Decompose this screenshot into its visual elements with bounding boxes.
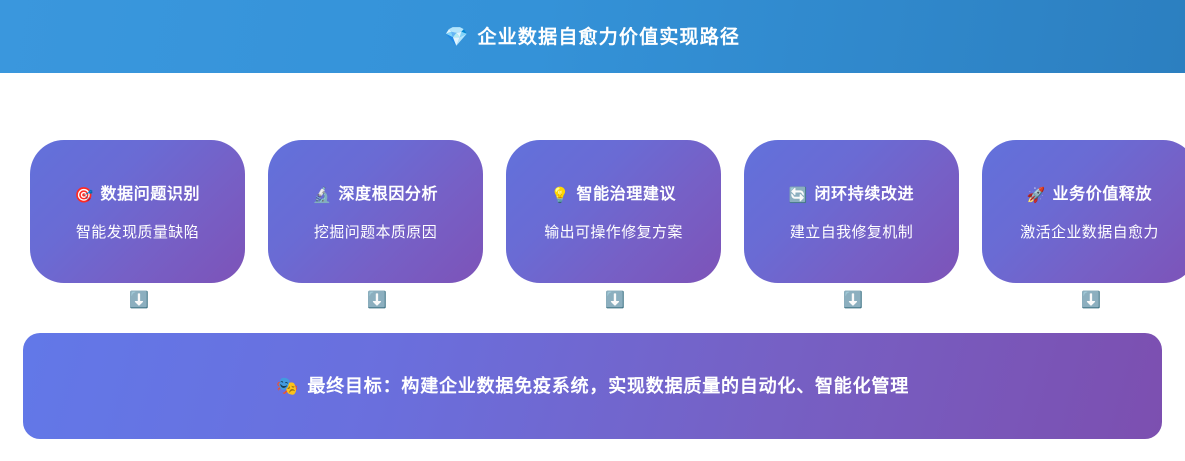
page-header: 💎 企业数据自愈力价值实现路径: [0, 0, 1185, 73]
step-card-header: 🔄 闭环持续改进: [789, 187, 914, 203]
step-card[interactable]: 🔬 深度根因分析 挖掘问题本质原因: [268, 140, 483, 283]
infographic-page: 💎 企业数据自愈力价值实现路径 🎯 数据问题识别 智能发现质量缺陷 ⬇️ 🔬 深…: [0, 0, 1185, 461]
step-card-description: 激活企业数据自愈力: [1020, 225, 1159, 240]
flow-step-1: 🎯 数据问题识别 智能发现质量缺陷 ⬇️: [30, 140, 245, 309]
step-card-header: 🎯 数据问题识别: [75, 187, 200, 203]
microscope-icon: 🔬: [313, 188, 332, 203]
down-arrow-icon: ⬇️: [367, 292, 384, 309]
step-card-header: 🚀 业务价值释放: [1027, 187, 1152, 203]
flow-step-3: 💡 智能治理建议 输出可操作修复方案 ⬇️: [506, 140, 721, 309]
step-card-description: 挖掘问题本质原因: [314, 225, 437, 240]
performing-arts-masks-icon: 🎭: [276, 377, 298, 395]
step-card-header: 💡 智能治理建议: [551, 187, 676, 203]
step-card-title: 数据问题识别: [101, 187, 201, 203]
step-card-header: 🔬 深度根因分析: [313, 187, 438, 203]
flow-step-4: 🔄 闭环持续改进 建立自我修复机制 ⬇️: [744, 140, 959, 309]
down-arrow-icon: ⬇️: [129, 292, 146, 309]
refresh-cycle-icon: 🔄: [789, 188, 808, 203]
step-card-description: 建立自我修复机制: [790, 225, 913, 240]
step-card-title: 深度根因分析: [339, 187, 439, 203]
flow-step-5: 🚀 业务价值释放 激活企业数据自愈力 ⬇️: [982, 140, 1185, 309]
step-card-title: 业务价值释放: [1053, 187, 1153, 203]
down-arrow-icon: ⬇️: [1081, 292, 1098, 309]
target-icon: 🎯: [75, 188, 94, 203]
flow-step-2: 🔬 深度根因分析 挖掘问题本质原因 ⬇️: [268, 140, 483, 309]
header-content: 💎 企业数据自愈力价值实现路径: [445, 28, 740, 47]
down-arrow-icon: ⬇️: [605, 292, 622, 309]
final-goal-text: 最终目标：构建企业数据免疫系统，实现数据质量的自动化、智能化管理: [307, 377, 909, 395]
gem-icon: 💎: [445, 28, 469, 47]
final-goal-banner: 🎭 最终目标：构建企业数据免疫系统，实现数据质量的自动化、智能化管理: [23, 333, 1162, 439]
final-goal-content: 🎭 最终目标：构建企业数据免疫系统，实现数据质量的自动化、智能化管理: [276, 377, 909, 395]
flow-steps-row: 🎯 数据问题识别 智能发现质量缺陷 ⬇️ 🔬 深度根因分析 挖掘问题本质原因 ⬇…: [30, 140, 1155, 309]
step-card[interactable]: 🔄 闭环持续改进 建立自我修复机制: [744, 140, 959, 283]
step-card[interactable]: 💡 智能治理建议 输出可操作修复方案: [506, 140, 721, 283]
page-title: 企业数据自愈力价值实现路径: [478, 28, 741, 47]
step-card-description: 智能发现质量缺陷: [76, 225, 199, 240]
step-card-title: 闭环持续改进: [815, 187, 915, 203]
lightbulb-icon: 💡: [551, 188, 570, 203]
step-card-title: 智能治理建议: [577, 187, 677, 203]
down-arrow-icon: ⬇️: [843, 292, 860, 309]
step-card[interactable]: 🚀 业务价值释放 激活企业数据自愈力: [982, 140, 1185, 283]
step-card-description: 输出可操作修复方案: [544, 225, 683, 240]
step-card[interactable]: 🎯 数据问题识别 智能发现质量缺陷: [30, 140, 245, 283]
rocket-icon: 🚀: [1027, 188, 1046, 203]
